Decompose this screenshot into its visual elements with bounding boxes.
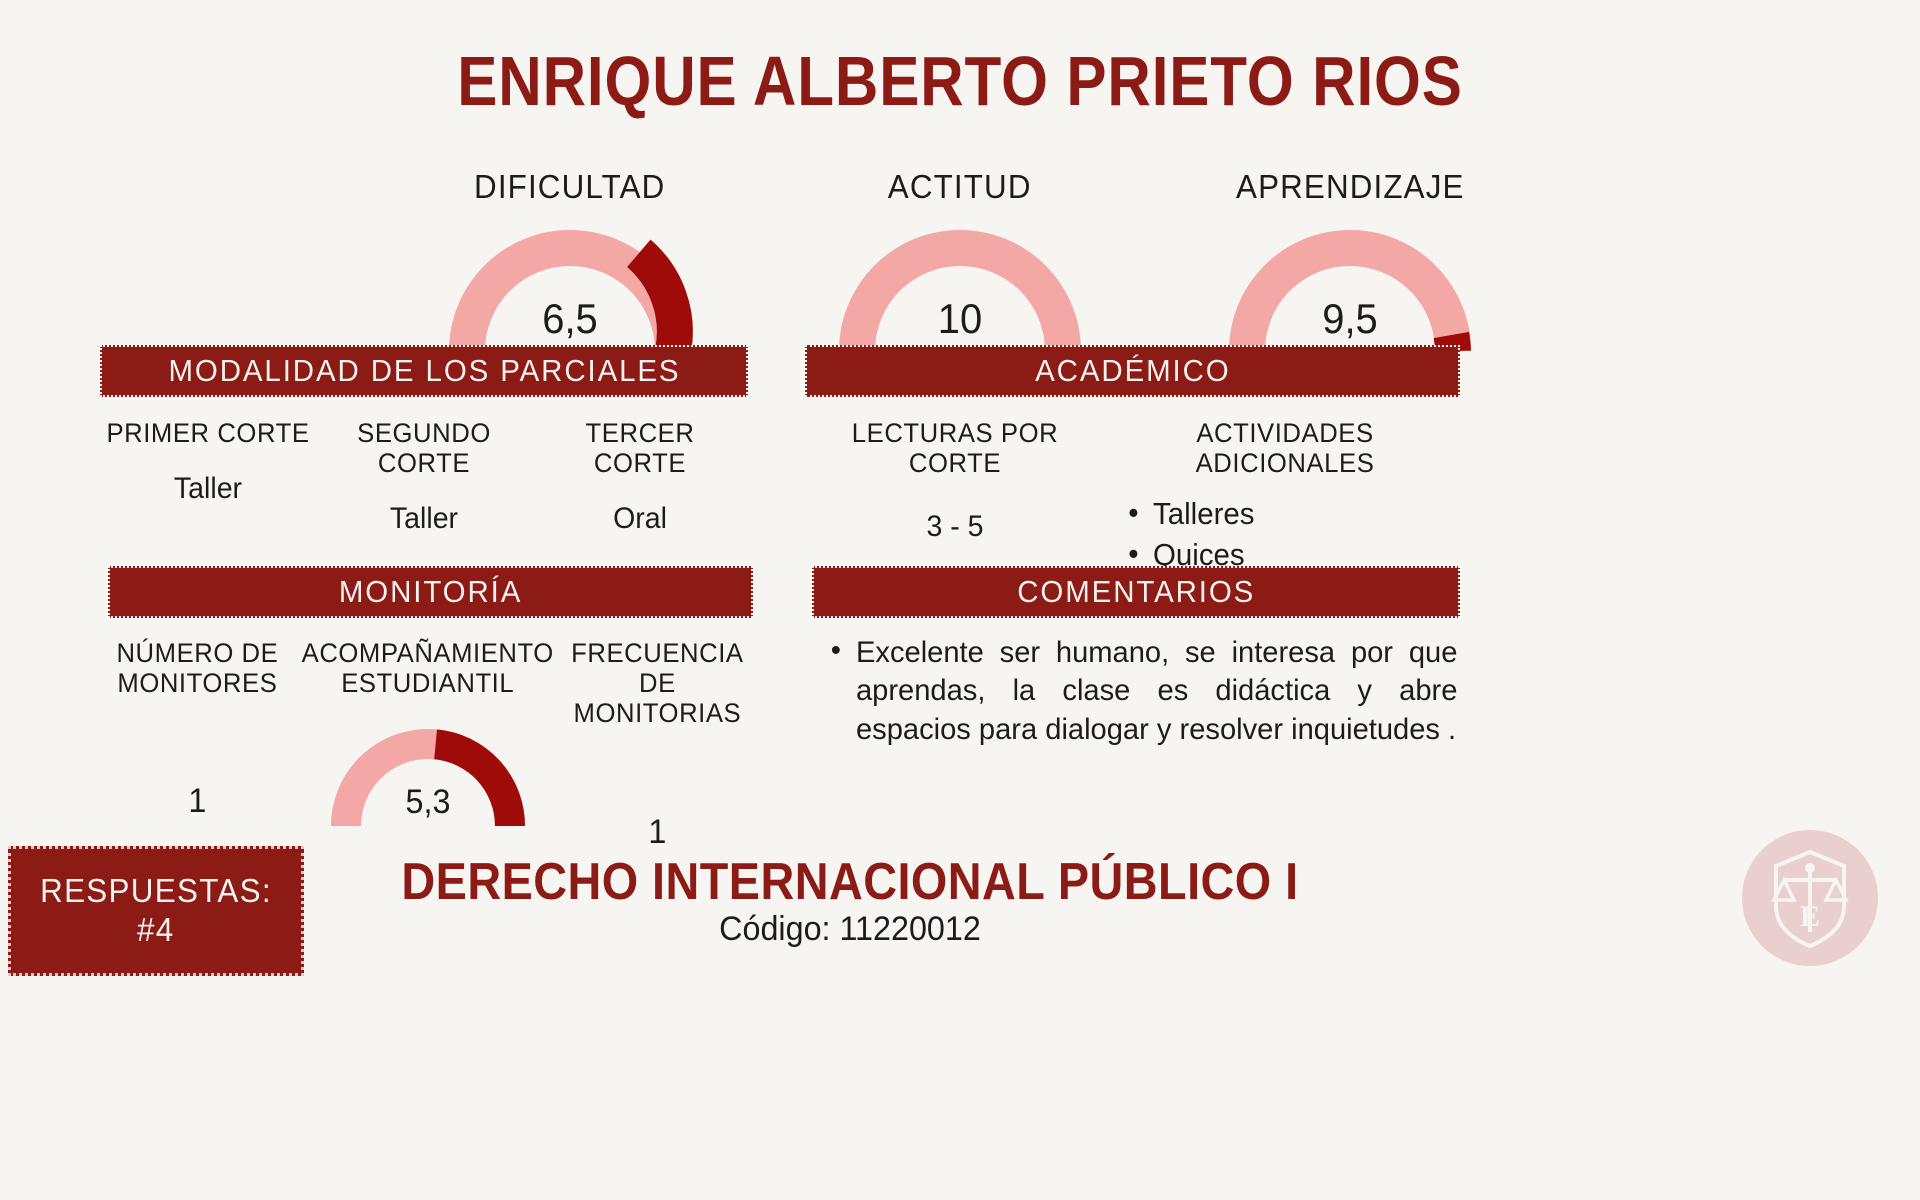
page-title: ENRIQUE ALBERTO PRIETO RIOS <box>134 46 1785 116</box>
modalidad-label-segundo: SEGUNDO CORTE <box>321 418 526 478</box>
monitoria-column-frecuencia: FRECUENCIA DE MONITORIAS 1 <box>560 638 755 852</box>
monitoria-value-numero: 1 <box>105 782 290 821</box>
modalidad-label-primer: PRIMER CORTE <box>105 418 310 448</box>
course-title: DERECHO INTERNACIONAL PÚBLICO I <box>382 856 1318 908</box>
section-header-monitoria: MONITORÍA <box>108 566 753 618</box>
list-item: Talleres <box>1153 494 1449 535</box>
monitoria-label-numero-line2: MONITORES <box>105 668 290 698</box>
section-header-modalidad-label: MODALIDAD DE LOS PARCIALES <box>168 353 680 389</box>
monitoria-label-acompanamiento-line2: ESTUDIANTIL <box>301 668 553 698</box>
gauge-actitud: ACTITUD 10 <box>810 168 1110 351</box>
course-code: Código: 11220012 <box>356 910 1344 949</box>
respuestas-label: RESPUESTAS: <box>40 872 272 911</box>
section-header-academico: ACADÉMICO <box>805 345 1460 397</box>
comentarios-body: Excelente ser humano, se interesa por qu… <box>826 634 1476 749</box>
infographic-page: ENRIQUE ALBERTO PRIETO RIOS DIFICULTAD 6… <box>0 0 1920 1200</box>
section-header-monitoria-label: MONITORÍA <box>339 574 522 610</box>
gauge-value-acompanamiento: 5,3 <box>333 783 523 822</box>
section-header-comentarios-label: COMENTARIOS <box>1017 574 1255 610</box>
respuestas-count: #4 <box>137 911 175 950</box>
gauge-aprendizaje: APRENDIZAJE 9,5 <box>1200 168 1500 351</box>
gauge-value-actitud: 10 <box>841 295 1079 343</box>
scales-of-justice-emblem-icon: E <box>1740 828 1880 968</box>
monitoria-label-frecuencia-line2: MONITORIAS <box>565 698 750 728</box>
section-header-modalidad: MODALIDAD DE LOS PARCIALES <box>100 345 748 397</box>
modalidad-column-tercer: TERCER CORTE Oral <box>532 418 748 536</box>
gauge-label-actitud: ACTITUD <box>888 168 1032 206</box>
list-item: Excelente ser humano, se interesa por qu… <box>856 634 1457 749</box>
respuestas-badge: RESPUESTAS: #4 <box>8 846 304 976</box>
gauge-dificultad: DIFICULTAD 6,5 <box>420 168 720 351</box>
gauge-value-aprendizaje: 9,5 <box>1231 295 1469 343</box>
academico-label-actividades: ACTIVIDADES ADICIONALES <box>1114 418 1456 478</box>
gauge-value-dificultad: 6,5 <box>451 295 689 343</box>
gauge-arc-actitud: 10 <box>835 224 1085 351</box>
gauge-label-aprendizaje: APRENDIZAJE <box>1236 168 1465 206</box>
monitoria-value-frecuencia: 1 <box>565 813 750 852</box>
monitoria-label-frecuencia-line1: FRECUENCIA DE <box>565 638 750 698</box>
monitoria-label-numero-line1: NÚMERO DE <box>105 638 290 668</box>
modalidad-column-segundo: SEGUNDO CORTE Taller <box>316 418 532 536</box>
comentarios-list: Excelente ser humano, se interesa por qu… <box>826 634 1476 749</box>
section-header-academico-label: ACADÉMICO <box>1035 353 1230 389</box>
gauge-arc-dificultad: 6,5 <box>445 224 695 351</box>
modalidad-column-primer: PRIMER CORTE Taller <box>100 418 316 536</box>
monitoria-label-acompanamiento-line1: ACOMPAÑAMIENTO <box>301 638 553 668</box>
modalidad-value-segundo: Taller <box>321 502 526 536</box>
modalidad-columns: PRIMER CORTE Taller SEGUNDO CORTE Taller… <box>100 418 748 536</box>
gauge-arc-aprendizaje: 9,5 <box>1225 224 1475 351</box>
monitoria-column-acompanamiento: ACOMPAÑAMIENTO ESTUDIANTIL 5,3 <box>295 638 560 852</box>
ratings-gauge-row: DIFICULTAD 6,5 ACTITUD 10 APRENDIZAJE <box>420 168 1500 351</box>
monitoria-column-numero: NÚMERO DE MONITORES 1 <box>100 638 295 852</box>
academico-value-lecturas: 3 - 5 <box>813 510 1098 544</box>
monitoria-columns: NÚMERO DE MONITORES 1 ACOMPAÑAMIENTO EST… <box>100 638 755 852</box>
modalidad-value-primer: Taller <box>105 472 310 506</box>
modalidad-value-tercer: Oral <box>537 502 742 536</box>
gauge-label-dificultad: DIFICULTAD <box>474 168 665 206</box>
modalidad-label-tercer: TERCER CORTE <box>537 418 742 478</box>
gauge-arc-acompanamiento: 5,3 <box>328 722 528 826</box>
svg-text:E: E <box>1800 900 1820 933</box>
academico-label-lecturas: LECTURAS POR CORTE <box>813 418 1098 478</box>
section-header-comentarios: COMENTARIOS <box>812 566 1460 618</box>
